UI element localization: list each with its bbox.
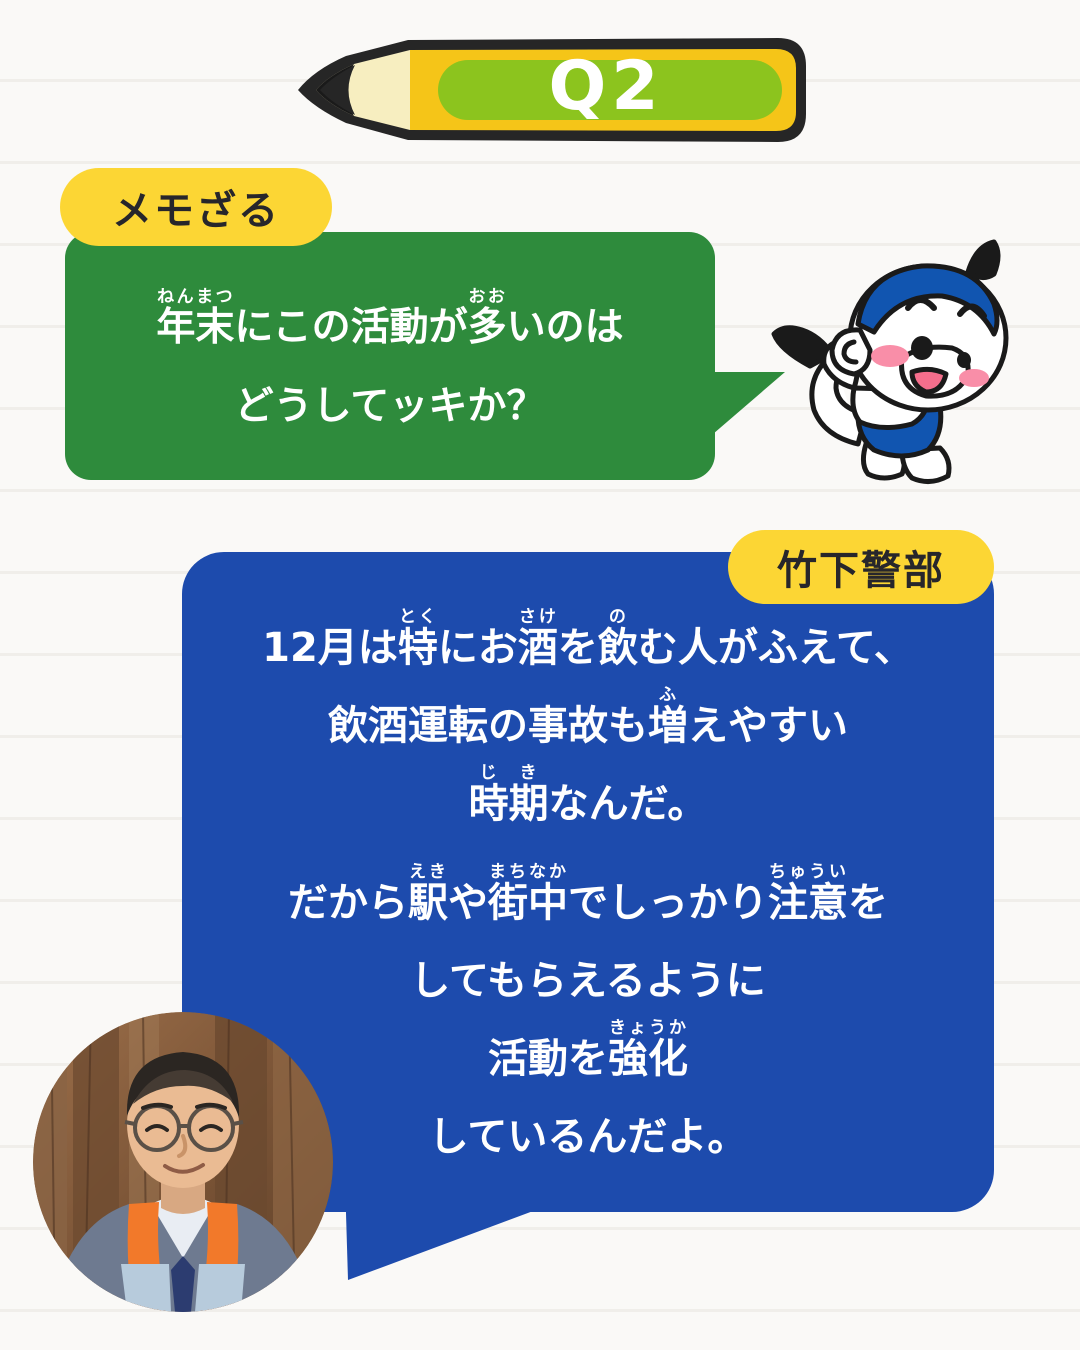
answer-line-4-seg5: でしっかり (568, 880, 768, 926)
answer-line-4-seg3: や (448, 880, 488, 926)
ruby-oo: 多おお (468, 305, 507, 350)
ruby-fu: 増ふ (648, 703, 688, 749)
answer-line-7-text: しているんだよ。 (429, 1114, 748, 1160)
ruby-eki: 駅えき (408, 880, 448, 926)
ruby-nenmatsu: 年末ねんまつ (156, 305, 234, 350)
speaker-tag-memozaru-label: メモざる (112, 178, 280, 236)
answer-line-1-seg1: 12月は (262, 625, 398, 671)
ruby-machinaka: 街中まちなか (488, 880, 568, 926)
question-line-1-seg2: にこの活動が (234, 305, 467, 350)
ruby-chuui: 注意ちゅうい (768, 880, 848, 926)
answer-line-4-seg7: を (848, 880, 888, 926)
ruby-jiki: 時期じき (469, 781, 549, 827)
answer-line-3-seg2: なんだ。 (549, 781, 708, 827)
answer-line-3: 時期じきなんだ。 (469, 763, 708, 824)
answer-line-7: しているんだよ。 (429, 1117, 748, 1157)
answer-line-1-seg3: にお (438, 625, 518, 671)
ruby-toku: 特とく (398, 625, 438, 671)
question-line-2: どうしてッキか？ (235, 387, 546, 426)
answer-line-5-text: してもらえるように (410, 958, 766, 1004)
question-line-1: 年末ねんまつにこの活動が多おおいのは (156, 287, 623, 347)
speaker-tag-memozaru: メモざる (60, 168, 332, 246)
speaker-tag-officer-label: 竹下警部 (777, 538, 945, 596)
answer-line-2: 飲酒運転の事故も増ふえやすい (328, 685, 848, 746)
answer-line-6-seg1: 活動を (488, 1036, 608, 1082)
officer-avatar (33, 1012, 333, 1312)
answer-line-1-seg7: む人がふえて、 (638, 625, 914, 671)
memozaru-mascot (762, 238, 1062, 500)
answer-line-6: 活動を強化きょうか (488, 1018, 688, 1079)
question-line-1-seg4: いのは (507, 305, 624, 350)
pencil-header: Q2 (258, 18, 818, 158)
question-bubble-text: 年末ねんまつにこの活動が多おおいのは どうしてッキか？ (65, 232, 715, 480)
answer-line-1: 12月は特とくにお酒さけを飲のむ人がふえて、 (262, 607, 914, 668)
ruby-kyouka: 強化きょうか (608, 1036, 688, 1082)
question-line-2-text: どうしてッキか？ (235, 384, 546, 429)
answer-line-5: してもらえるように (410, 961, 766, 1001)
speaker-tag-officer: 竹下警部 (728, 530, 994, 604)
answer-line-4: だから駅えきや街中まちなかでしっかり注意ちゅういを (288, 862, 888, 923)
pencil-icon (258, 18, 818, 158)
answer-line-2-seg3: えやすい (688, 703, 848, 749)
ruby-no: 飲の (598, 625, 638, 671)
answer-line-4-seg1: だから (288, 880, 408, 926)
ruby-sake: 酒さけ (518, 625, 558, 671)
answer-line-2-seg1: 飲酒運転の事故も (328, 703, 648, 749)
answer-line-1-seg5: を (558, 625, 598, 671)
monkey-mascot-icon (762, 238, 1062, 500)
officer-portrait-image (33, 1012, 333, 1312)
